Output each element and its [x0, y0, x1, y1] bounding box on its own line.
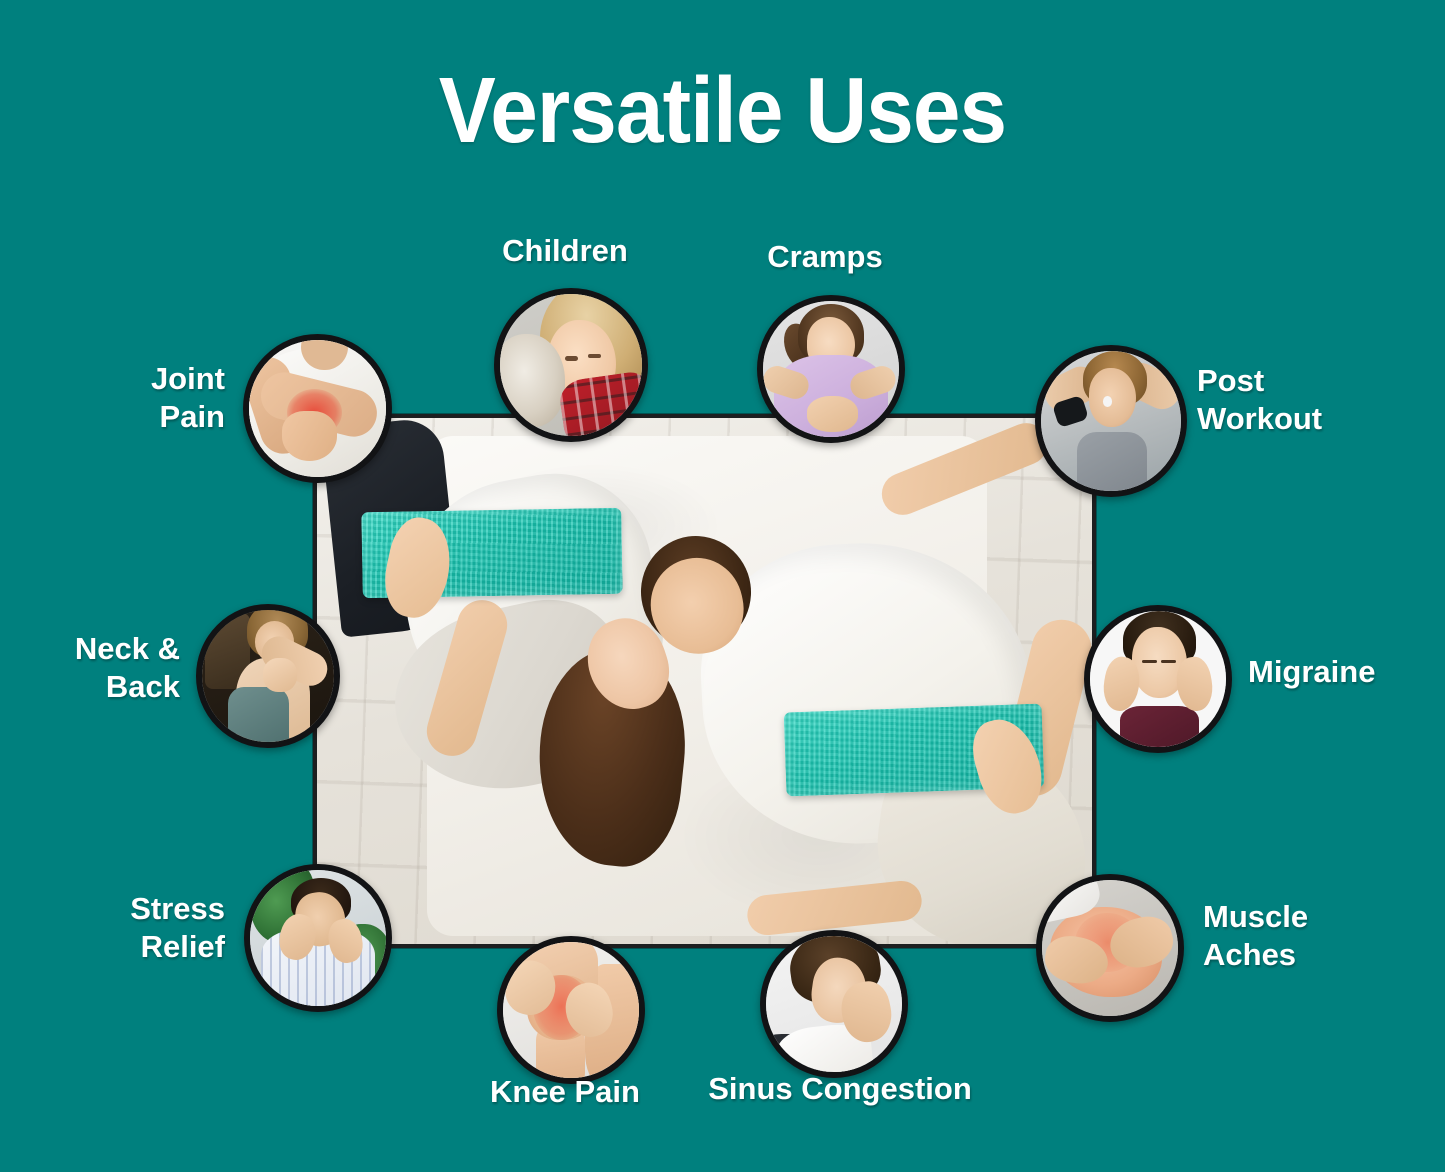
- use-label-migraine: Migraine: [1248, 653, 1438, 691]
- use-circle-knee-pain[interactable]: [497, 936, 645, 1084]
- use-circle-migraine[interactable]: [1084, 605, 1232, 753]
- use-circle-muscle-aches[interactable]: [1036, 874, 1184, 1022]
- sinus-congestion-photo: [766, 936, 902, 1072]
- use-label-stress-relief: Stress Relief: [60, 890, 225, 966]
- use-label-cramps: Cramps: [712, 238, 938, 276]
- use-label-joint-pain: Joint Pain: [60, 360, 225, 436]
- children-photo: [500, 294, 642, 436]
- use-label-muscle-aches: Muscle Aches: [1203, 898, 1433, 974]
- post-workout-photo: [1041, 351, 1181, 491]
- use-label-knee-pain: Knee Pain: [450, 1073, 680, 1111]
- stress-relief-photo: [250, 870, 386, 1006]
- neck-and-back-photo: [202, 610, 334, 742]
- migraine-photo: [1090, 611, 1226, 747]
- use-label-post-workout: Post Workout: [1197, 362, 1437, 438]
- use-circle-stress-relief[interactable]: [244, 864, 392, 1012]
- use-circle-neck-and-back[interactable]: [196, 604, 340, 748]
- use-label-children: Children: [450, 232, 680, 270]
- use-circle-children[interactable]: [494, 288, 648, 442]
- use-circle-sinus-congestion[interactable]: [760, 930, 908, 1078]
- use-circle-post-workout[interactable]: [1035, 345, 1187, 497]
- use-label-neck-and-back: Neck & Back: [20, 630, 180, 706]
- use-circle-cramps[interactable]: [757, 295, 905, 443]
- use-circle-joint-pain[interactable]: [243, 334, 392, 483]
- cramps-photo: [763, 301, 899, 437]
- muscle-aches-photo: [1042, 880, 1178, 1016]
- knee-pain-photo: [503, 942, 639, 1078]
- joint-pain-photo: [249, 340, 386, 477]
- use-label-sinus-congestion: Sinus Congestion: [690, 1070, 990, 1108]
- versatile-uses-infographic: Versatile Uses Joint Pai: [0, 0, 1445, 1172]
- center-product-photo: [313, 414, 1096, 948]
- page-title: Versatile Uses: [58, 62, 1387, 160]
